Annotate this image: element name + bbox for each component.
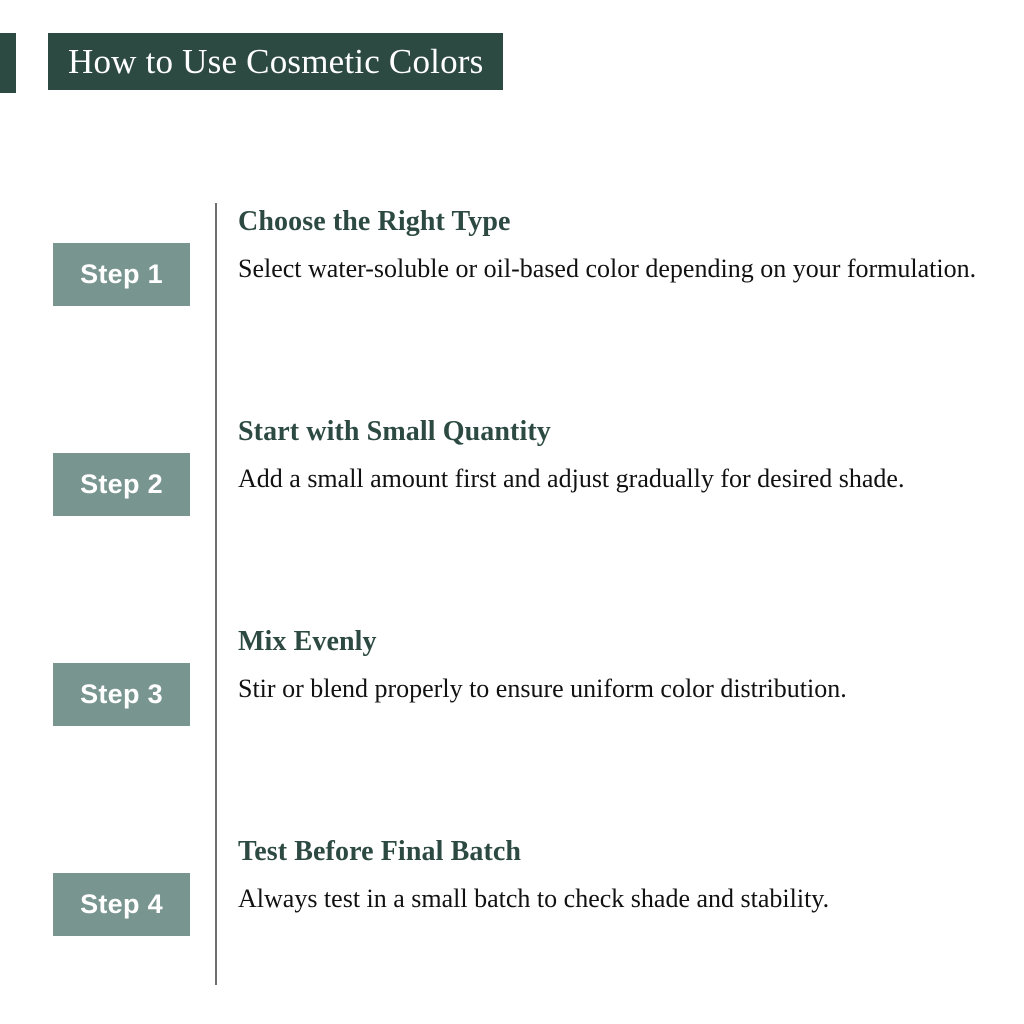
- page-title: How to Use Cosmetic Colors: [68, 44, 483, 79]
- step-badge-1: Step 1: [53, 243, 190, 306]
- step-heading: Choose the Right Type: [238, 205, 978, 239]
- step-badge-column: Step 3: [0, 623, 215, 726]
- step-description: Select water-soluble or oil-based color …: [238, 246, 978, 292]
- step-badge-column: Step 2: [0, 413, 215, 516]
- step-description: Stir or blend properly to ensure uniform…: [238, 666, 978, 712]
- step-heading: Start with Small Quantity: [238, 415, 978, 449]
- step-description: Always test in a small batch to check sh…: [238, 876, 978, 922]
- step-row: Step 3 Mix Evenly Stir or blend properly…: [0, 623, 1024, 726]
- step-content: Choose the Right Type Select water-solub…: [215, 203, 1024, 292]
- step-badge-label: Step 2: [80, 471, 163, 498]
- title-banner: How to Use Cosmetic Colors: [48, 33, 503, 90]
- step-badge-label: Step 4: [80, 891, 163, 918]
- steps-section: Step 1 Choose the Right Type Select wate…: [0, 203, 1024, 985]
- step-row: Step 1 Choose the Right Type Select wate…: [0, 203, 1024, 306]
- step-badge-4: Step 4: [53, 873, 190, 936]
- step-row: Step 2 Start with Small Quantity Add a s…: [0, 413, 1024, 516]
- left-accent-bar: [0, 33, 16, 93]
- step-heading: Mix Evenly: [238, 625, 978, 659]
- step-heading: Test Before Final Batch: [238, 835, 978, 869]
- step-content: Mix Evenly Stir or blend properly to ens…: [215, 623, 1024, 712]
- step-badge-label: Step 3: [80, 681, 163, 708]
- step-badge-label: Step 1: [80, 261, 163, 288]
- step-content: Start with Small Quantity Add a small am…: [215, 413, 1024, 502]
- step-badge-column: Step 4: [0, 833, 215, 936]
- step-description: Add a small amount first and adjust grad…: [238, 456, 978, 502]
- step-badge-3: Step 3: [53, 663, 190, 726]
- step-badge-2: Step 2: [53, 453, 190, 516]
- step-row: Step 4 Test Before Final Batch Always te…: [0, 833, 1024, 936]
- step-content: Test Before Final Batch Always test in a…: [215, 833, 1024, 922]
- step-badge-column: Step 1: [0, 203, 215, 306]
